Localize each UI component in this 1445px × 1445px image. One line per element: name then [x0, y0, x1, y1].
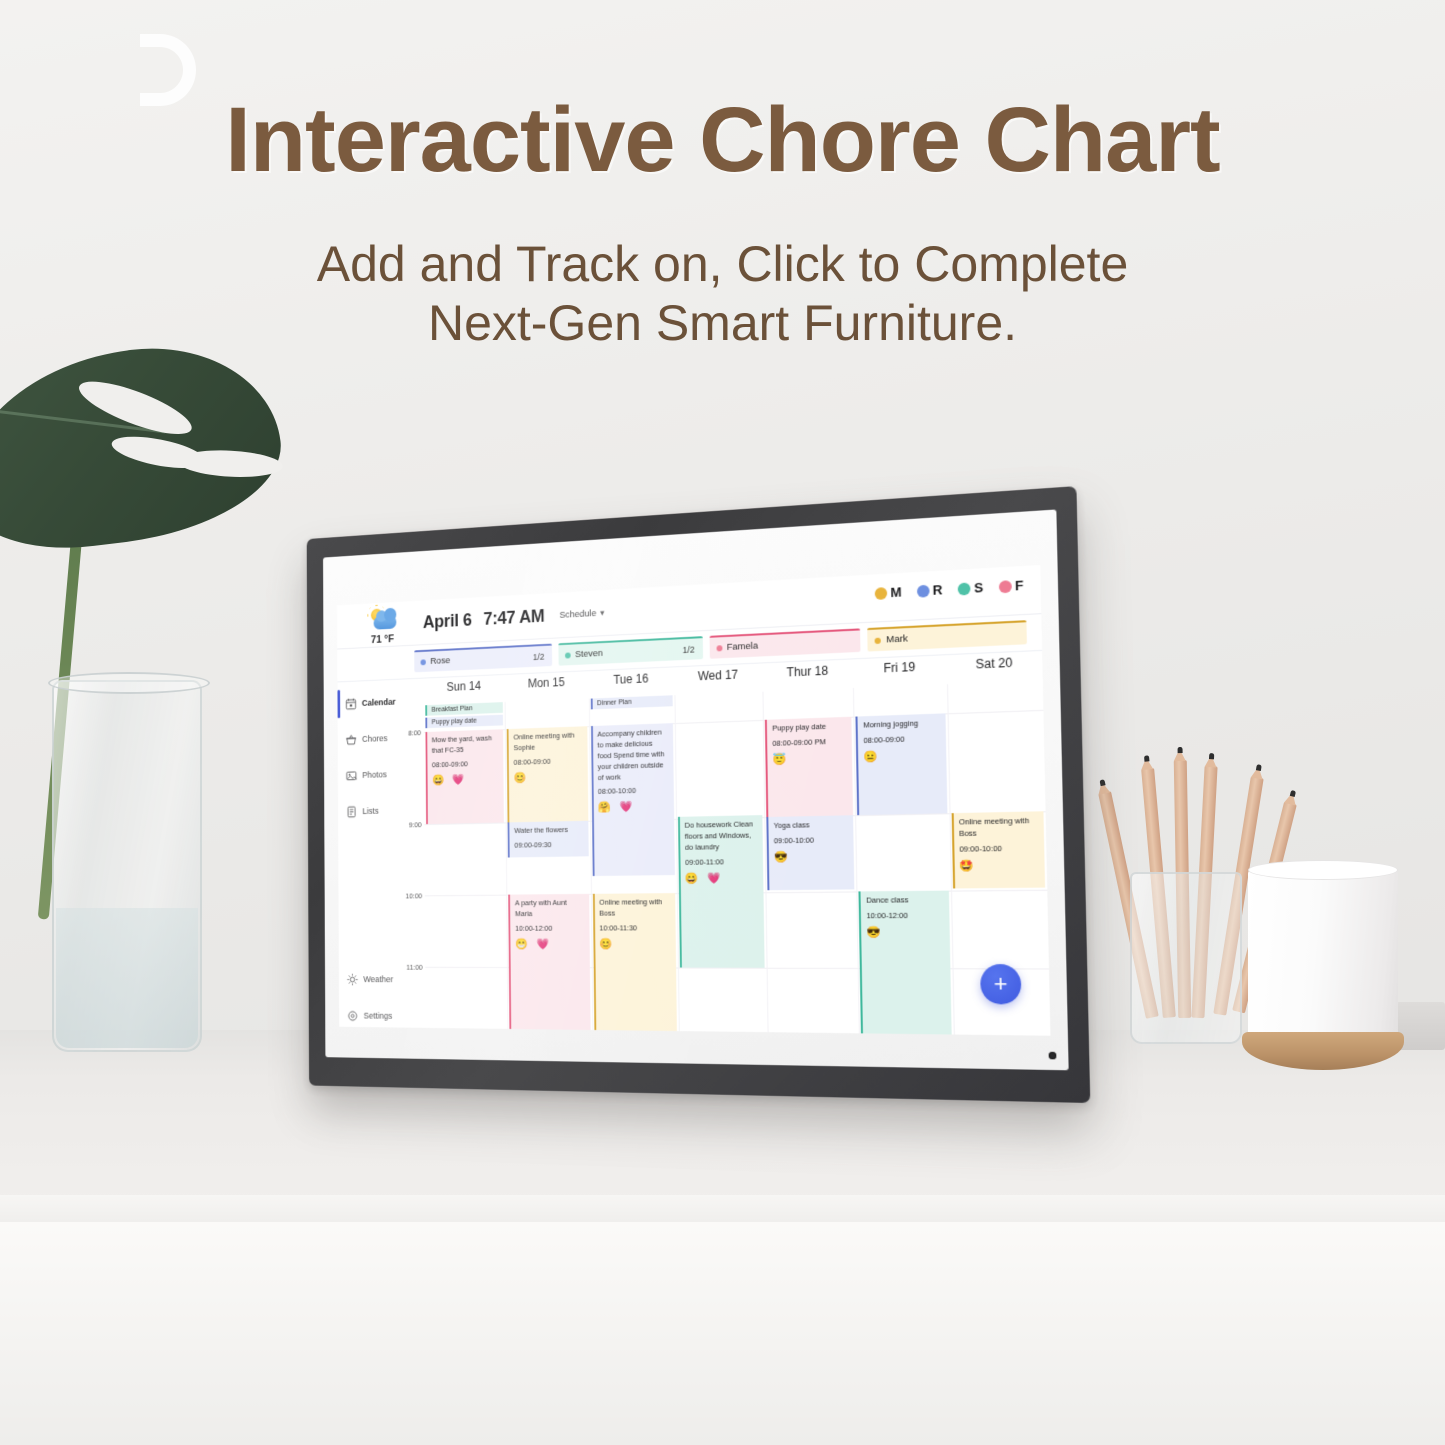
avatar-initial: M — [890, 584, 901, 600]
shelf-front-panel — [0, 1222, 1445, 1445]
time-label: 11:00 — [406, 963, 422, 972]
day-header[interactable]: Fri 19 — [853, 655, 947, 688]
avatar-dot — [917, 584, 930, 597]
subline-line-2: Next-Gen Smart Furniture. — [0, 294, 1445, 353]
app-screen: 71 °F April 6 7:47 AM Schedule ▾ MRSF — [337, 565, 1050, 1036]
event-title: Water the flowers — [514, 825, 583, 837]
member-name: Steven — [575, 648, 603, 660]
sidebar-item-label: Chores — [362, 733, 387, 743]
member-pill-steven[interactable]: Steven1/2 — [558, 636, 702, 666]
view-selector-label: Schedule — [559, 608, 596, 621]
calendar-event[interactable]: Online meeting with Sophie08:00-09:00😊 — [507, 726, 588, 822]
event-time: 08:00-09:00 — [514, 756, 583, 769]
event-emoji: 🤩 — [960, 858, 1040, 876]
calendar-event[interactable]: Online meeting with Boss09:00-10:00🤩 — [951, 811, 1045, 888]
grid-day-divider — [853, 688, 860, 1036]
event-title: A party with Aunt Maria — [515, 898, 584, 920]
sidebar-item-settings[interactable]: Settings — [339, 997, 403, 1034]
event-title: Mow the yard, wash that FC-35 — [432, 733, 499, 756]
date-time-display: April 6 7:47 AM — [423, 606, 545, 633]
avatar-dot — [875, 587, 888, 600]
sidebar-item-label: Photos — [362, 770, 387, 780]
sidebar-item-weather[interactable]: Weather — [339, 961, 403, 998]
event-time: 09:00-10:00 — [774, 835, 849, 847]
current-time: 7:47 AM — [483, 606, 544, 629]
smart-display-device: 71 °F April 6 7:47 AM Schedule ▾ MRSF — [272, 512, 1072, 1092]
vase-rim — [48, 672, 210, 694]
calendar-event[interactable]: Dance class10:00-12:00😎 — [859, 891, 952, 1036]
member-progress: 1/2 — [682, 644, 694, 655]
calendar-body: CalendarChoresPhotosListsWeatherSettings… — [337, 651, 1050, 1036]
time-label: 9:00 — [409, 820, 422, 829]
calendar-event[interactable]: Water the flowers09:00-09:30 — [508, 821, 589, 858]
event-time: 08:00-09:00 PM — [772, 736, 847, 749]
event-time: 08:00-10:00 — [598, 785, 669, 798]
day-header[interactable]: Wed 17 — [674, 663, 763, 695]
plus-icon: + — [994, 973, 1008, 996]
event-emoji: 😊 — [600, 937, 671, 953]
cloud-icon — [374, 615, 397, 629]
glass-pencil-jar — [1130, 872, 1242, 1044]
day-header[interactable]: Mon 15 — [505, 671, 589, 702]
weather-widget[interactable]: 71 °F — [351, 606, 414, 646]
sidebar-item-label: Settings — [364, 1011, 393, 1021]
avatar-initial: F — [1015, 577, 1024, 593]
calendar-event[interactable]: Mow the yard, wash that FC-3508:00-09:00… — [425, 729, 504, 824]
subline-line-1: Add and Track on, Click to Complete — [0, 235, 1445, 294]
sun-icon — [347, 973, 358, 985]
event-time: 09:00-11:00 — [685, 856, 758, 868]
grid-day-divider — [674, 695, 679, 1036]
temperature-label: 71 °F — [371, 633, 394, 646]
product-lifestyle-scene: Interactive Chore Chart Add and Track on… — [0, 0, 1445, 1445]
event-emoji: 😇 — [772, 750, 847, 768]
event-time: 09:00-10:00 — [959, 843, 1039, 856]
calendar-icon — [345, 697, 356, 710]
event-title: Online meeting with Boss — [599, 897, 670, 919]
leaf-notch — [177, 448, 283, 479]
view-selector-dropdown[interactable]: Schedule ▾ — [559, 607, 604, 620]
calendar-grid-wrapper: Sun 14Mon 15Tue 16Wed 17Thur 18Fri 19Sat… — [400, 651, 1050, 1036]
event-title: Online meeting with Sophie — [513, 730, 582, 754]
chevron-down-icon: ▾ — [600, 607, 604, 618]
grid-day-divider — [763, 692, 769, 1036]
calendar-event[interactable]: A party with Aunt Maria10:00-12:00😁 💗 — [508, 894, 590, 1036]
member-name: Rose — [430, 655, 450, 666]
event-time: 08:00-09:00 — [432, 758, 499, 771]
time-label: 8:00 — [408, 728, 421, 737]
app-sidebar: CalendarChoresPhotosListsWeatherSettings — [337, 680, 402, 1035]
avatar-s[interactable]: S — [958, 580, 983, 597]
sidebar-item-label: Lists — [362, 806, 378, 816]
member-avatar-group: MRSF — [875, 577, 1024, 601]
sidebar-item-photos[interactable]: Photos — [338, 756, 401, 794]
event-emoji: 😁 💗 — [515, 937, 584, 953]
glass-vase — [52, 680, 202, 1052]
sidebar-item-label: Weather — [363, 974, 393, 984]
avatar-initial: R — [932, 582, 942, 598]
event-title: Dance class — [866, 895, 943, 907]
grid-day-divider — [947, 684, 955, 1036]
sidebar-item-calendar[interactable]: Calendar — [337, 683, 400, 722]
event-emoji: 😐 — [864, 748, 941, 767]
list-icon — [346, 805, 357, 818]
member-dot — [421, 659, 426, 665]
leaf-notch — [74, 371, 197, 444]
vase-water — [56, 908, 198, 1048]
calendar-event[interactable]: Do housework Clean floors and Windows, d… — [678, 815, 765, 968]
device-bezel: 71 °F April 6 7:47 AM Schedule ▾ MRSF — [323, 509, 1069, 1070]
calendar-grid: 8:009:0010:0011:00 Breakfast PlanPuppy p… — [400, 680, 1050, 1035]
member-dot — [716, 645, 722, 651]
day-header[interactable]: Sun 14 — [423, 675, 505, 705]
member-pill-famela[interactable]: Famela — [709, 628, 861, 658]
event-time: 10:00-12:00 — [515, 923, 584, 934]
add-event-fab[interactable]: + — [980, 964, 1022, 1004]
time-gutter: 8:009:0010:0011:00 — [400, 705, 425, 1034]
sensor-dot — [1049, 1052, 1057, 1060]
day-column[interactable]: Do housework Clean floors and Windows, d… — [674, 692, 767, 1036]
shelf-lip — [0, 1195, 1445, 1225]
event-emoji: 😊 — [514, 769, 583, 787]
all-day-event[interactable]: Puppy play date — [425, 715, 503, 729]
event-emoji: 😎 — [774, 849, 849, 866]
day-column[interactable]: Online meeting with Boss09:00-10:00🤩 — [947, 680, 1051, 1035]
current-date: April 6 — [423, 610, 472, 632]
member-pill-mark[interactable]: Mark — [867, 620, 1026, 651]
page-title: Interactive Chore Chart — [0, 92, 1445, 189]
event-title: Yoga class — [773, 819, 848, 832]
day-column[interactable]: Online meeting with Sophie08:00-09:00😊Wa… — [505, 699, 592, 1036]
calendar-event[interactable]: Accompany children to make delicious foo… — [591, 723, 675, 876]
day-column[interactable]: Breakfast PlanPuppy play dateMow the yar… — [424, 702, 508, 1036]
all-day-event[interactable]: Dinner Plan — [590, 695, 672, 709]
all-day-event[interactable]: Breakfast Plan — [425, 702, 503, 716]
gear-icon — [347, 1009, 358, 1022]
member-dot — [875, 637, 881, 643]
sidebar-item-lists[interactable]: Lists — [338, 792, 401, 830]
calendar-event[interactable]: Morning jogging08:00-09:00😐 — [856, 713, 947, 815]
event-title: Do housework Clean floors and Windows, d… — [685, 819, 758, 853]
day-column[interactable]: Dinner PlanAccompany children to make de… — [588, 695, 678, 1036]
sidebar-item-label: Calendar — [362, 697, 396, 708]
event-time: 08:00-09:00 — [863, 733, 940, 747]
calendar-event[interactable]: Puppy play date08:00-09:00 PM😇 — [765, 717, 853, 817]
sun-behind-cloud-icon — [367, 607, 397, 631]
day-column[interactable]: Morning jogging08:00-09:00😐Dance class10… — [853, 684, 953, 1036]
calendar-event[interactable]: Yoga class09:00-10:00😎 — [766, 815, 854, 890]
day-header[interactable]: Tue 16 — [588, 667, 674, 698]
avatar-r[interactable]: R — [917, 582, 943, 599]
avatar-initial: S — [974, 580, 983, 596]
photo-icon — [346, 769, 357, 782]
avatar-dot — [999, 580, 1012, 593]
day-column[interactable]: Puppy play date08:00-09:00 PM😇Yoga class… — [763, 688, 860, 1036]
marketing-copy: Interactive Chore Chart Add and Track on… — [0, 92, 1445, 353]
avatar-dot — [958, 582, 971, 595]
avatar-f[interactable]: F — [999, 577, 1024, 594]
day-header[interactable]: Sat 20 — [946, 651, 1043, 684]
event-emoji: 😄 💗 — [685, 870, 758, 887]
member-dot — [565, 652, 571, 658]
event-title: Accompany children to make delicious foo… — [597, 727, 668, 783]
member-name: Famela — [727, 640, 758, 653]
member-pill-rose[interactable]: Rose1/2 — [414, 644, 552, 673]
marketing-subline: Add and Track on, Click to Complete Next… — [0, 235, 1445, 353]
avatar-m[interactable]: M — [875, 584, 902, 601]
event-title: Puppy play date — [772, 721, 847, 735]
calendar-event[interactable]: Online meeting with Boss10:00-11:30😊 — [592, 893, 676, 1036]
day-columns: Breakfast PlanPuppy play dateMow the yar… — [424, 680, 1051, 1035]
basket-icon — [345, 733, 356, 746]
time-label: 10:00 — [405, 892, 422, 901]
event-emoji: 😎 — [867, 925, 945, 942]
sidebar-spacer — [338, 828, 402, 961]
event-time: 10:00-11:30 — [599, 923, 670, 934]
event-title: Morning jogging — [863, 718, 940, 732]
member-name: Mark — [886, 633, 908, 645]
event-time: 10:00-12:00 — [866, 910, 943, 922]
event-emoji: 😄 💗 — [432, 772, 499, 789]
event-title: Online meeting with Boss — [959, 816, 1039, 840]
day-header[interactable]: Thur 18 — [762, 659, 853, 691]
mug-rim — [1248, 860, 1398, 880]
event-emoji: 🤗 💗 — [598, 799, 669, 816]
sidebar-item-chores[interactable]: Chores — [338, 720, 401, 758]
member-progress: 1/2 — [533, 651, 545, 661]
device-frame: 71 °F April 6 7:47 AM Schedule ▾ MRSF — [307, 486, 1091, 1103]
event-time: 09:00-09:30 — [514, 839, 583, 851]
white-mug — [1248, 868, 1398, 1040]
